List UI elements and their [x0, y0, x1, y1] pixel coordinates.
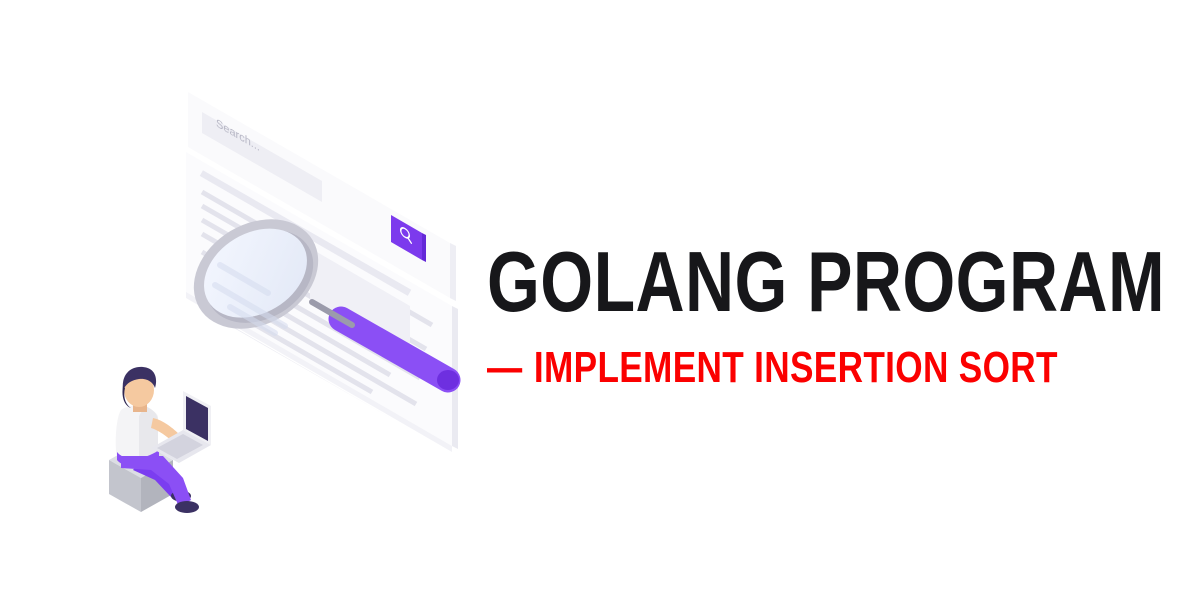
- search-button-edge: [422, 233, 426, 262]
- subtitle-dash: —: [487, 343, 524, 392]
- subtitle-text: IMPLEMENT INSERTION SORT: [534, 343, 1058, 392]
- heading-block: GOLANG PROGRAM — IMPLEMENT INSERTION SOR…: [487, 243, 1127, 390]
- search-bar-card-edge: [450, 243, 456, 301]
- shoe-near: [175, 501, 199, 513]
- person-with-laptop: [109, 367, 211, 513]
- page-title: GOLANG PROGRAM: [487, 243, 999, 324]
- isometric-search-illustration: Search...: [60, 60, 480, 520]
- banner-root: Search...: [0, 0, 1200, 600]
- page-subtitle: — IMPLEMENT INSERTION SORT: [487, 346, 999, 390]
